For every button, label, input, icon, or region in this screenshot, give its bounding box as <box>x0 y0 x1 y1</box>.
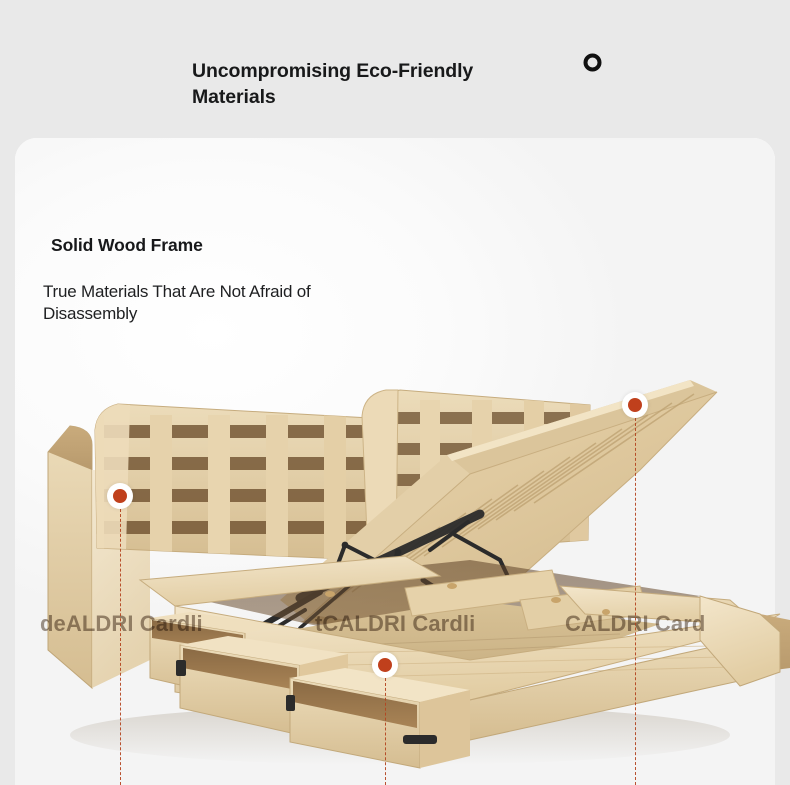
headboard-slat-marker[interactable] <box>107 483 133 509</box>
lift-platform-marker-leader-line <box>635 418 636 785</box>
drawer-marker[interactable] <box>372 652 398 678</box>
headboard-slat-marker-leader-line <box>120 509 121 785</box>
watermark-1: deALDRI Cardli <box>40 611 203 637</box>
feature-subtitle: Solid Wood Frame <box>51 235 203 256</box>
feature-tagline: True Materials That Are Not Afraid of Di… <box>43 281 383 325</box>
watermark-2: tCALDRI Cardli <box>315 611 475 637</box>
product-detail-page: Uncompromising Eco-Friendly Materials So… <box>0 0 790 785</box>
page-headline: Uncompromising Eco-Friendly Materials <box>192 58 552 110</box>
lift-platform-marker[interactable] <box>622 392 648 418</box>
drawer-marker-leader-line <box>385 678 386 785</box>
page-header: Uncompromising Eco-Friendly Materials <box>0 0 790 138</box>
circle-outline-icon <box>582 52 603 73</box>
